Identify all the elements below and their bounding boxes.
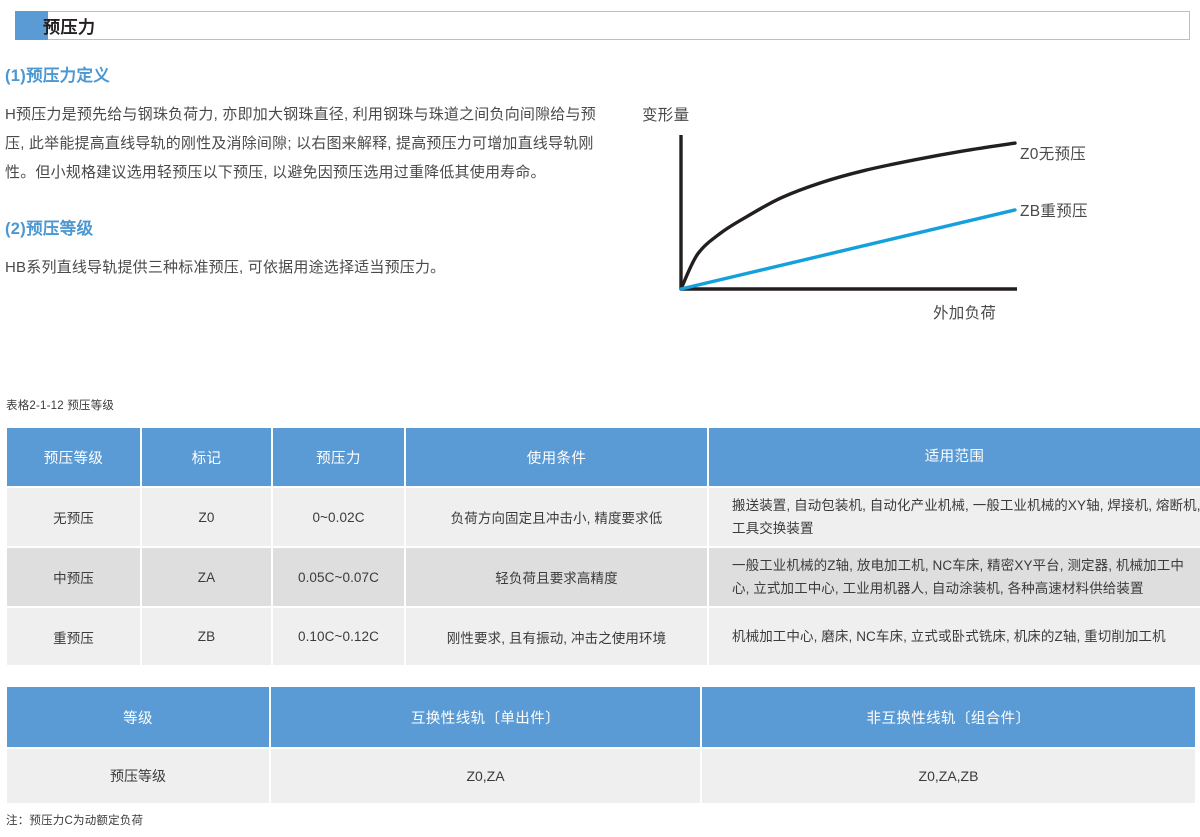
section-1-body: H预压力是预先给与钢珠负荷力, 亦即加大钢珠直径, 利用钢珠与珠道之间负向间隙给… bbox=[5, 100, 605, 187]
table-row: 预压等级 Z0,ZA Z0,ZA,ZB bbox=[7, 749, 1195, 803]
table1-col-header-grade: 预压等级 bbox=[7, 428, 140, 486]
table1-cell-grade: 中预压 bbox=[7, 548, 140, 606]
table-footnote: 注：预压力C为动额定负荷 bbox=[6, 812, 143, 828]
table1-cell-grade: 无预压 bbox=[7, 488, 140, 546]
page-header-bar: 预压力 bbox=[15, 11, 1190, 40]
content-text-column: (1)预压力定义 H预压力是预先给与钢珠负荷力, 亦即加大钢珠直径, 利用钢珠与… bbox=[5, 62, 605, 282]
page-title: 预压力 bbox=[43, 13, 96, 38]
table1-col-header-force: 预压力 bbox=[273, 428, 404, 486]
table1-cell-condition: 刚性要求, 且有振动, 冲击之使用环境 bbox=[406, 608, 707, 665]
table1-cell-mark: ZA bbox=[142, 548, 271, 606]
table2-cell-interchangeable: Z0,ZA bbox=[271, 749, 700, 803]
table1-col-header-condition: 使用条件 bbox=[406, 428, 707, 486]
preload-deformation-chart: 变形量 外加负荷 Z0无预压 ZB重预压 bbox=[620, 95, 1200, 335]
chart-x-axis-label: 外加负荷 bbox=[933, 301, 996, 323]
table1-col-header-mark: 标记 bbox=[142, 428, 271, 486]
table1-cell-condition: 负荷方向固定且冲击小, 精度要求低 bbox=[406, 488, 707, 546]
table1-caption: 表格2-1-12 预压等级 bbox=[6, 397, 114, 413]
table1-cell-force: 0.10C~0.12C bbox=[273, 608, 404, 665]
chart-series-label-z0: Z0无预压 bbox=[1020, 142, 1086, 164]
table1-cell-mark: ZB bbox=[142, 608, 271, 665]
table2-cell-non-interchangeable: Z0,ZA,ZB bbox=[702, 749, 1195, 803]
table1-cell-grade: 重预压 bbox=[7, 608, 140, 665]
table2-header-row: 等级 互换性线轨〔单出件〕 非互换性线轨〔组合件〕 bbox=[7, 687, 1195, 747]
section-2-heading: (2)预压等级 bbox=[5, 215, 605, 239]
table-row: 重预压 ZB 0.10C~0.12C 刚性要求, 且有振动, 冲击之使用环境 机… bbox=[7, 608, 1200, 665]
table1-cell-mark: Z0 bbox=[142, 488, 271, 546]
table-row: 无预压 Z0 0~0.02C 负荷方向固定且冲击小, 精度要求低 搬送装置, 自… bbox=[7, 488, 1200, 546]
table1-cell-range: 机械加工中心, 磨床, NC车床, 立式或卧式铣床, 机床的Z轴, 重切削加工机 bbox=[709, 608, 1200, 665]
table2-col-header-non-interchangeable: 非互换性线轨〔组合件〕 bbox=[702, 687, 1195, 747]
table1-cell-force: 0~0.02C bbox=[273, 488, 404, 546]
table2-col-header-interchangeable: 互换性线轨〔单出件〕 bbox=[271, 687, 700, 747]
chart-svg bbox=[620, 95, 1200, 335]
table1-cell-condition: 轻负荷且要求高精度 bbox=[406, 548, 707, 606]
table2-col-header-grade: 等级 bbox=[7, 687, 269, 747]
table1-cell-range: 搬送装置, 自动包装机, 自动化产业机械, 一般工业机械的XY轴, 焊接机, 熔… bbox=[709, 488, 1200, 546]
chart-series-label-zb: ZB重预压 bbox=[1020, 199, 1088, 221]
table1-col-header-range: 适用范围 bbox=[709, 428, 1200, 486]
preload-grade-table: 预压等级 标记 预压力 使用条件 适用范围 无预压 Z0 0~0.02C 负荷方… bbox=[5, 426, 1200, 667]
chart-y-axis-label: 变形量 bbox=[642, 103, 689, 125]
chart-series-zb-line bbox=[681, 210, 1015, 289]
table1-cell-force: 0.05C~0.07C bbox=[273, 548, 404, 606]
chart-series-z0-curve bbox=[681, 143, 1015, 289]
section-2-body: HB系列直线导轨提供三种标准预压, 可依据用途选择适当预压力。 bbox=[5, 253, 605, 282]
interchangeability-table: 等级 互换性线轨〔单出件〕 非互换性线轨〔组合件〕 预压等级 Z0,ZA Z0,… bbox=[5, 685, 1197, 805]
table2-cell-label: 预压等级 bbox=[7, 749, 269, 803]
table1-header-row: 预压等级 标记 预压力 使用条件 适用范围 bbox=[7, 428, 1200, 486]
table-row: 中预压 ZA 0.05C~0.07C 轻负荷且要求高精度 一般工业机械的Z轴, … bbox=[7, 548, 1200, 606]
table1-cell-range: 一般工业机械的Z轴, 放电加工机, NC车床, 精密XY平台, 测定器, 机械加… bbox=[709, 548, 1200, 606]
section-1-heading: (1)预压力定义 bbox=[5, 62, 605, 86]
header-title-box bbox=[48, 11, 1190, 40]
